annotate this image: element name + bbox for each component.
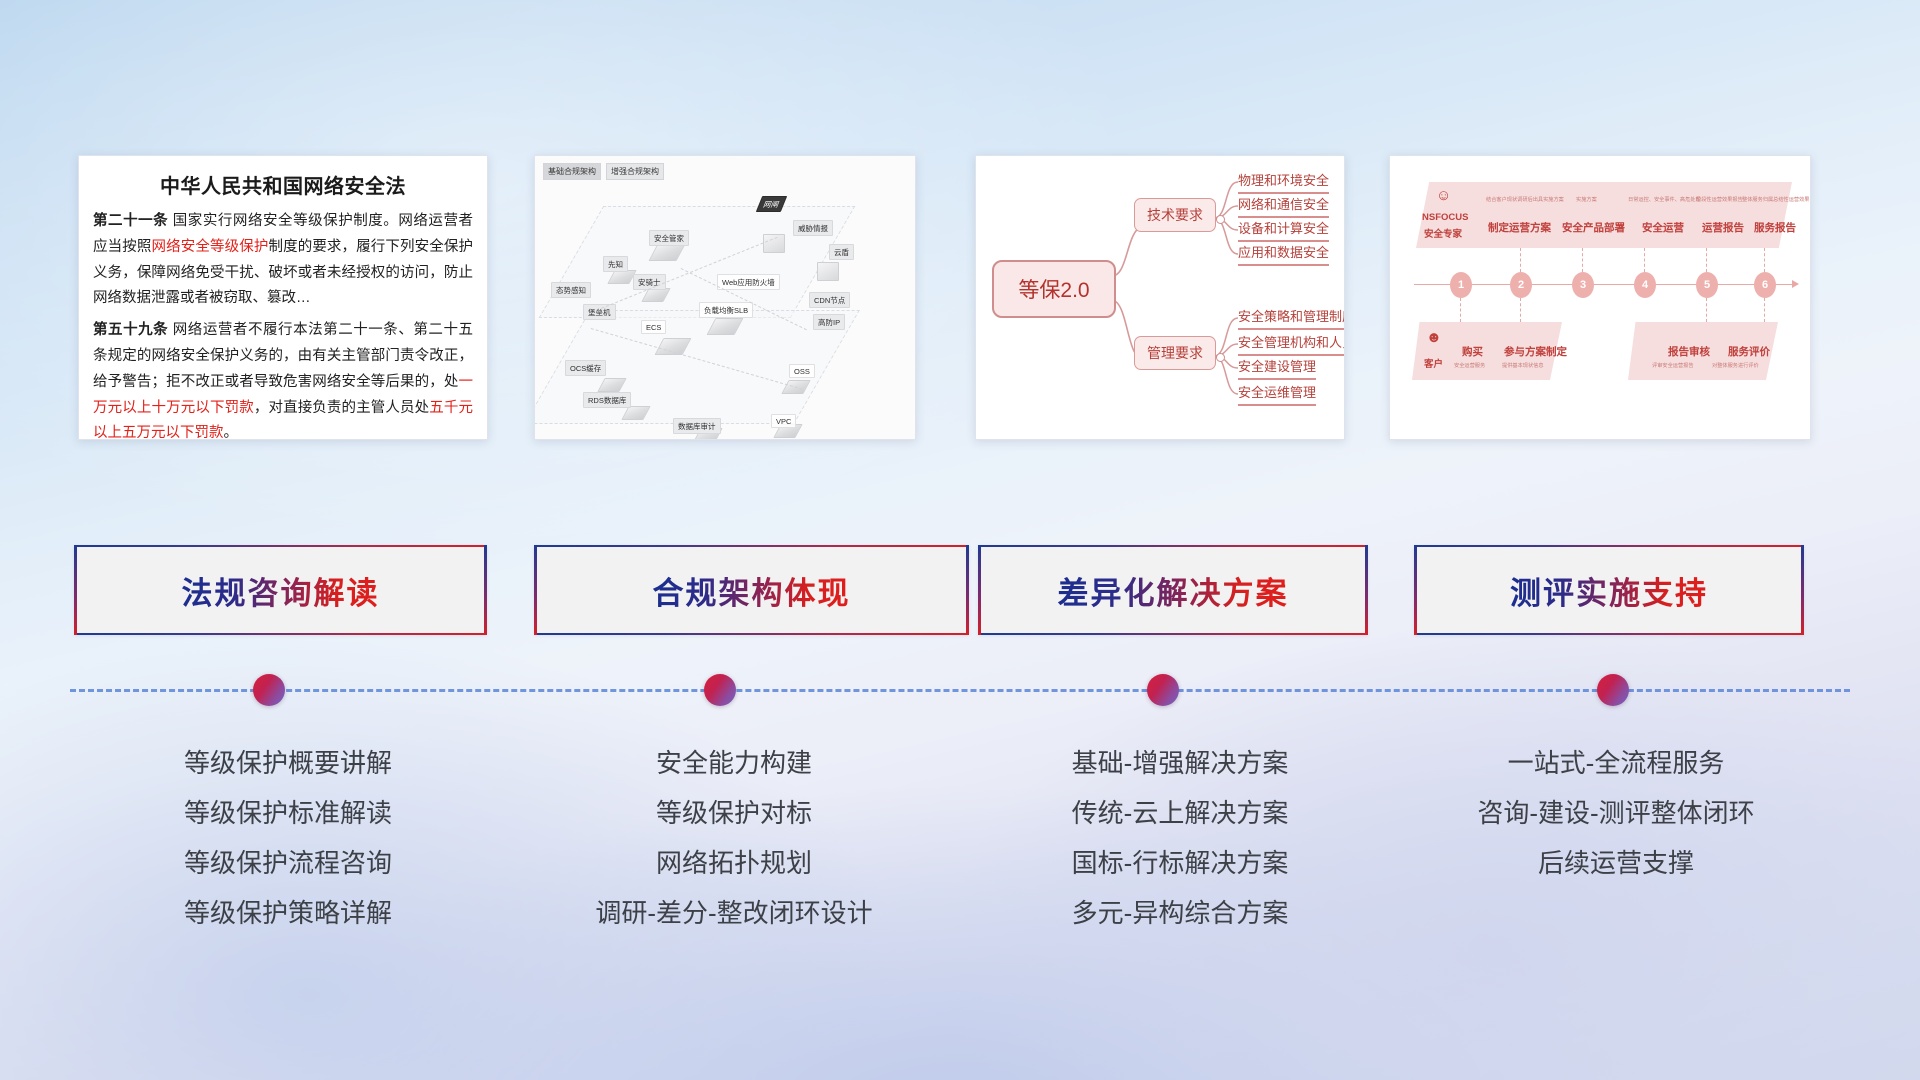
pillar-items-1: 等级保护概要讲解 等级保护标准解读 等级保护流程咨询 等级保护策略详解 [78, 738, 498, 938]
customer-action-sub: 评审安全运营报告 [1652, 362, 1694, 369]
vendor-name: NSFOCUS [1422, 212, 1468, 223]
expert-person-icon: ☺ [1436, 188, 1451, 203]
arch-node-foresight[interactable]: 先知 [603, 256, 628, 272]
pillar-title-4: 测评实施支持 [1510, 568, 1708, 613]
mindmap-leaf[interactable]: 网络和通信安全 [1238, 194, 1329, 218]
pillar-title-1: 法规咨询解读 [182, 568, 380, 613]
list-item: 等级保护概要讲解 [78, 738, 498, 788]
arch-node-anti-ddos[interactable]: 高防IP [813, 314, 845, 330]
customer-action-main: 购买 [1462, 344, 1483, 359]
customer-action-sub: 提供基本现状信息 [1502, 362, 1544, 369]
step-sub-label: 整体服务归属总结性运营效果 [1742, 196, 1809, 203]
box-edge-right [484, 545, 487, 635]
pillar-title-box-4[interactable]: 测评实施支持 [1414, 545, 1804, 635]
arch-node-ocs-cache[interactable]: OCS缓存 [565, 360, 606, 376]
list-item: 网络拓扑规划 [524, 838, 944, 888]
step-main-label: 服务报告 [1754, 220, 1796, 235]
step-main-label: 运营报告 [1702, 220, 1744, 235]
process-card[interactable]: ☺ NSFOCUS 安全专家 制定运营方案 安全产品部署 安全运营 运营报告 服… [1389, 155, 1811, 440]
pillar-title-2: 合规架构体现 [653, 568, 851, 613]
customer-person-icon: ☻ [1426, 330, 1442, 345]
list-item: 一站式-全流程服务 [1406, 738, 1826, 788]
box-edge-top [74, 545, 487, 547]
pillar-title-3: 差异化解决方案 [1058, 568, 1289, 613]
box-edge-right [1365, 545, 1368, 635]
timeline-dashed-line [70, 689, 1850, 692]
box-edge-top [534, 545, 969, 547]
box-edge-top [978, 545, 1368, 547]
law-card-body: 第二十一条 国家实行网络安全等级保护制度。网络运营者应当按照网络安全等级保护制度… [79, 209, 487, 440]
process-riser [1644, 248, 1645, 272]
list-item: 国标-行标解决方案 [970, 838, 1390, 888]
arch-node-threat-intel[interactable]: 威胁情报 [793, 220, 833, 236]
process-riser [1706, 248, 1707, 272]
vendor-role: 安全专家 [1424, 226, 1462, 240]
pillar-title-box-2[interactable]: 合规架构体现 [534, 545, 969, 635]
pillar-items-2: 安全能力构建 等级保护对标 网络拓扑规划 调研-差分-整改闭环设计 [524, 738, 944, 938]
process-riser [1582, 248, 1583, 272]
law-card-title: 中华人民共和国网络安全法 [79, 170, 487, 199]
customer-action-main: 服务评价 [1728, 344, 1770, 359]
box-edge-left [978, 545, 981, 635]
pillar-title-box-1[interactable]: 法规咨询解读 [74, 545, 487, 635]
arch-node-waf[interactable]: Web应用防火墙 [717, 274, 780, 290]
box-edge-bottom [74, 633, 487, 635]
customer-action-sub: 对整体服务进行评价 [1712, 362, 1759, 369]
timeline-dot-3[interactable] [1147, 674, 1179, 706]
architecture-diagram: 基础合规架构 增强合规架构 [535, 156, 915, 439]
arch-node-situational-awareness[interactable]: 态势感知 [551, 282, 591, 298]
box-edge-right [966, 545, 969, 635]
mindmap-branch-technical[interactable]: 技术要求 [1134, 198, 1216, 232]
process-riser [1706, 298, 1707, 322]
step-sub-label: 日常运控、安全事件、高危处理 [1628, 196, 1701, 203]
box-edge-bottom [534, 633, 969, 635]
list-item: 基础-增强解决方案 [970, 738, 1390, 788]
mindmap-card[interactable]: 等保2.0 技术要求 物理和环境安全 网络和通信安全 设备和计算安全 应用和数据… [975, 155, 1345, 440]
law-article-label: 第五十九条 [93, 322, 168, 338]
arch-node-slb[interactable]: 负载均衡SLB [699, 302, 753, 318]
mindmap-collapse-dot-icon[interactable] [1216, 353, 1225, 362]
step-sub-label: 实施方案 [1576, 196, 1597, 203]
slide-canvas: 中华人民共和国网络安全法 第二十一条 国家实行网络安全等级保护制度。网络运营者应… [0, 0, 1920, 1080]
customer-action-main: 参与方案制定 [1504, 344, 1567, 359]
step-main-label: 安全运营 [1642, 220, 1684, 235]
box-edge-bottom [1414, 633, 1804, 635]
device-box-icon [817, 262, 839, 281]
process-diagram: ☺ NSFOCUS 安全专家 制定运营方案 安全产品部署 安全运营 运营报告 服… [1390, 156, 1810, 439]
timeline-dot-1[interactable] [253, 674, 285, 706]
mindmap-branch-management[interactable]: 管理要求 [1134, 336, 1216, 370]
list-item: 等级保护对标 [524, 788, 944, 838]
arch-node-yundun[interactable]: 云盾 [829, 244, 854, 260]
law-highlight: 网络安全等级保护 [151, 239, 268, 255]
mindmap-diagram: 等保2.0 技术要求 物理和环境安全 网络和通信安全 设备和计算安全 应用和数据… [976, 156, 1344, 439]
process-riser [1520, 298, 1521, 322]
arch-node-rds[interactable]: RDS数据库 [583, 392, 631, 408]
step-node-4[interactable]: 4 [1634, 272, 1656, 298]
mindmap-leaf[interactable]: 设备和计算安全 [1238, 218, 1329, 242]
customer-action-sub: 安全运营服务 [1454, 362, 1485, 369]
step-node-1[interactable]: 1 [1450, 272, 1472, 298]
arch-node-oss[interactable]: OSS [789, 364, 815, 378]
arch-node-vpc[interactable]: VPC [771, 414, 796, 428]
customer-action-main: 报告审核 [1668, 344, 1710, 359]
list-item: 后续运营支撑 [1406, 838, 1826, 888]
arch-node-ecs[interactable]: ECS [641, 320, 666, 334]
step-main-label: 制定运营方案 [1488, 220, 1551, 235]
architecture-card[interactable]: 基础合规架构 增强合规架构 [534, 155, 916, 440]
list-item: 咨询-建设-测评整体闭环 [1406, 788, 1826, 838]
law-article-label: 第二十一条 [93, 213, 168, 229]
box-edge-left [1414, 545, 1417, 635]
law-card[interactable]: 中华人民共和国网络安全法 第二十一条 国家实行网络安全等级保护制度。网络运营者应… [78, 155, 488, 440]
process-riser [1520, 248, 1521, 272]
step-sub-label: 阶段性运营效果报告 [1696, 196, 1743, 203]
list-item: 调研-差分-整改闭环设计 [524, 888, 944, 938]
step-node-3[interactable]: 3 [1572, 272, 1594, 298]
pillar-title-box-3[interactable]: 差异化解决方案 [978, 545, 1368, 635]
list-item: 传统-云上解决方案 [970, 788, 1390, 838]
mindmap-leaf[interactable]: 安全运维管理 [1238, 382, 1316, 406]
step-sub-label: 结合客户现状调研后出具实施方案 [1486, 196, 1564, 203]
mindmap-core-node[interactable]: 等保2.0 [992, 260, 1116, 318]
step-node-6[interactable]: 6 [1754, 272, 1776, 298]
process-axis-arrow-icon [1792, 280, 1799, 288]
list-item: 多元-异构综合方案 [970, 888, 1390, 938]
timeline-dot-2[interactable] [704, 674, 736, 706]
mindmap-leaf[interactable]: 安全建设管理 [1238, 356, 1316, 380]
mindmap-collapse-dot-icon[interactable] [1216, 215, 1225, 224]
step-node-5[interactable]: 5 [1696, 272, 1718, 298]
box-edge-left [74, 545, 77, 635]
list-item: 等级保护流程咨询 [78, 838, 498, 888]
pillar-title-row: 法规咨询解读 合规架构体现 差异化解决方案 测评实施支持 [0, 545, 1920, 637]
arch-node-db-audit[interactable]: 数据库审计 [673, 418, 721, 434]
process-riser [1460, 298, 1461, 322]
box-edge-bottom [978, 633, 1368, 635]
law-paragraph-59: 第五十九条 网络运营者不履行本法第二十一条、第二十五条规定的网络安全保护义务的，… [93, 318, 473, 440]
media-card-row: 中华人民共和国网络安全法 第二十一条 国家实行网络安全等级保护制度。网络运营者应… [0, 155, 1920, 440]
timeline-dot-4[interactable] [1597, 674, 1629, 706]
law-paragraph-21: 第二十一条 国家实行网络安全等级保护制度。网络运营者应当按照网络安全等级保护制度… [93, 209, 473, 312]
pillar-items-3: 基础-增强解决方案 传统-云上解决方案 国标-行标解决方案 多元-异构综合方案 [970, 738, 1390, 938]
process-riser [1764, 248, 1765, 272]
box-edge-right [1801, 545, 1804, 635]
list-item: 等级保护策略详解 [78, 888, 498, 938]
law-text: ，对直接负责的主管人员处 [254, 400, 429, 416]
arch-node-cdn[interactable]: CDN节点 [809, 292, 850, 308]
pillar-detail-row: 等级保护概要讲解 等级保护标准解读 等级保护流程咨询 等级保护策略详解 安全能力… [0, 738, 1920, 968]
box-edge-left [534, 545, 537, 635]
list-item: 安全能力构建 [524, 738, 944, 788]
pillar-items-4: 一站式-全流程服务 咨询-建设-测评整体闭环 后续运营支撑 [1406, 738, 1826, 888]
arch-node-security-butler[interactable]: 安全管家 [649, 230, 689, 246]
law-text: 。 [224, 425, 239, 440]
box-edge-top [1414, 545, 1804, 547]
step-main-label: 安全产品部署 [1562, 220, 1625, 235]
arch-node-bastion-host[interactable]: 堡垒机 [583, 304, 616, 320]
mindmap-leaf[interactable]: 应用和数据安全 [1238, 242, 1329, 266]
list-item: 等级保护标准解读 [78, 788, 498, 838]
process-riser [1764, 298, 1765, 322]
mindmap-leaf[interactable]: 物理和环境安全 [1238, 170, 1329, 194]
customer-role: 客户 [1424, 356, 1443, 370]
architecture-canvas: 网闸 安全管家 先知 态势感知 堡垒机 安骑士 威胁情报 Web应用防火墙 云盾… [541, 178, 909, 433]
vendor-band [1416, 182, 1792, 248]
timeline [0, 660, 1920, 720]
mindmap-leaf[interactable]: 安全管理机构和人员 [1238, 332, 1345, 356]
step-node-2[interactable]: 2 [1510, 272, 1532, 298]
mindmap-leaf[interactable]: 安全策略和管理制度 [1238, 306, 1345, 330]
